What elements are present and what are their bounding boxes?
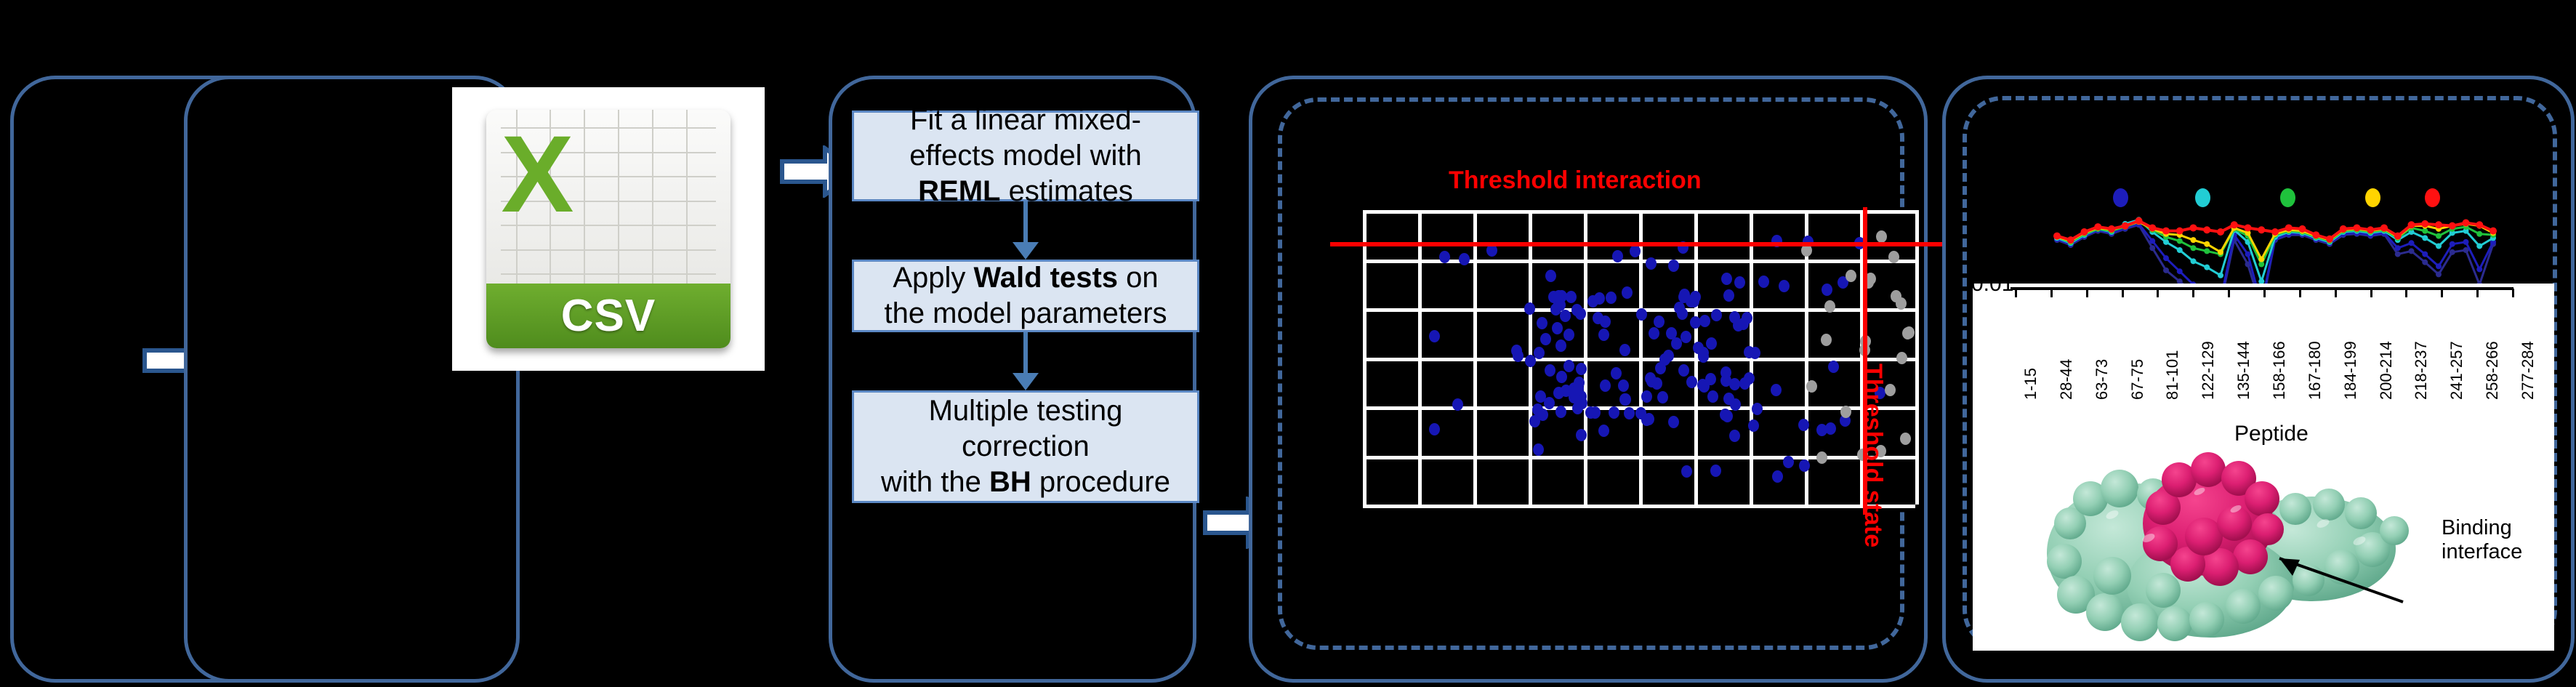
scatter-gridline-h <box>1363 505 1915 508</box>
scatter-point-significant <box>1598 329 1609 341</box>
scatter-point-significant <box>1772 470 1783 483</box>
scatter-point-significant <box>1598 425 1609 437</box>
scatter-point-significant <box>1681 465 1692 478</box>
chart-x-tick <box>2228 289 2230 297</box>
step-wald-suffix: on <box>1118 262 1159 294</box>
series-marker <box>2231 221 2238 228</box>
chart-x-tick <box>2086 289 2088 297</box>
scatter-point-significant <box>1657 391 1668 403</box>
scatter-point-significant <box>1619 344 1630 356</box>
scatter-point-nonsignificant <box>1846 270 1856 282</box>
chart-x-tick-label: 158-166 <box>2270 341 2289 400</box>
scatter-point-nonsignificant <box>1896 352 1907 364</box>
series-marker <box>2340 225 2347 233</box>
scatter-point-significant <box>1666 327 1677 340</box>
chart-x-tick-label: 258-266 <box>2483 341 2502 400</box>
step-box-wald: Apply Wald tests on the model parameters <box>852 260 1199 332</box>
scatter-point-significant <box>1556 371 1567 383</box>
scatter-point-significant <box>1563 329 1574 341</box>
series-marker <box>2204 248 2210 254</box>
series-marker <box>2422 228 2428 234</box>
scatter-point-significant <box>1534 347 1545 359</box>
series-marker <box>2476 266 2482 272</box>
scatter-point-significant <box>1738 318 1749 330</box>
series-marker <box>2245 252 2251 257</box>
series-marker <box>2435 221 2442 228</box>
series-marker <box>2422 235 2428 241</box>
scatter-point-significant <box>1545 270 1556 282</box>
series-marker <box>2326 236 2333 243</box>
scatter-point-nonsignificant <box>1900 433 1911 445</box>
scatter-point-significant <box>1723 289 1734 302</box>
step-wald-prefix: Apply <box>893 262 973 294</box>
series-marker <box>2258 257 2264 262</box>
chart-x-tick-label: 1-15 <box>2021 368 2040 400</box>
series-marker <box>2081 228 2088 236</box>
series-marker <box>2204 241 2210 247</box>
series-legend <box>1977 185 2544 214</box>
scatter-point-nonsignificant <box>1891 290 1901 302</box>
scatter-point-significant <box>1525 355 1536 367</box>
series-marker <box>2450 241 2455 247</box>
scatter-point-significant <box>1641 414 1652 426</box>
series-marker <box>2163 268 2169 273</box>
series-marker <box>2163 255 2169 261</box>
chart-x-tick-label: 81-101 <box>2163 350 2182 400</box>
scatter-point-significant <box>1622 286 1633 299</box>
binding-interface-line1: Binding <box>2442 516 2522 540</box>
threshold-interaction-label: Threshold interaction <box>1449 166 1702 195</box>
step-connector-1 <box>1023 201 1028 244</box>
scatter-point-nonsignificant <box>1821 334 1832 346</box>
scatter-point-significant <box>1600 316 1611 328</box>
scatter-point-significant <box>1748 419 1759 432</box>
scatter-point-significant <box>1537 317 1547 329</box>
scatter-point-significant <box>1529 415 1540 427</box>
chart-x-tick <box>2370 289 2372 297</box>
binding-interface-annotation: Binding interface <box>2442 516 2522 565</box>
scatter-point-significant <box>1799 459 1810 472</box>
series-marker <box>2421 220 2428 228</box>
scatter-point-significant <box>1524 302 1535 315</box>
series-marker <box>2285 224 2293 231</box>
step-bh-line1: Multiple testing <box>929 395 1123 427</box>
scatter-gridline-h <box>1363 456 1915 459</box>
series-marker <box>2463 239 2469 245</box>
series-marker <box>2422 260 2428 265</box>
series-marker <box>2271 228 2279 236</box>
chart-x-tick <box>2263 289 2266 297</box>
series-marker <box>2422 252 2428 257</box>
chart-x-tick <box>2122 289 2124 297</box>
series-marker <box>2136 217 2143 225</box>
scatter-gridline-v <box>1915 210 1919 505</box>
series-marker <box>2217 228 2224 236</box>
scatter-point-significant <box>1594 292 1605 305</box>
series-marker <box>2354 224 2361 231</box>
step-connector-1-tip <box>1013 242 1039 260</box>
scatter-point-significant <box>1668 416 1679 428</box>
series-marker <box>2395 245 2401 251</box>
chart-x-tick <box>2050 289 2053 297</box>
scatter-point-significant <box>1646 257 1657 270</box>
series-marker <box>2476 231 2482 237</box>
scatter-point-significant <box>1532 403 1543 416</box>
results-figure-card: 0.01 1-1528-4463-7367-7581-101122-129135… <box>1973 284 2554 651</box>
csv-file-icon: X CSV <box>452 87 765 371</box>
scatter-point-significant <box>1600 379 1611 392</box>
scatter-point-significant <box>1699 315 1710 327</box>
csv-letter-x: X <box>501 119 603 243</box>
scatter-point-significant <box>1540 333 1551 345</box>
chart-x-tick <box>2476 289 2479 297</box>
scatter-plot <box>1363 210 1915 505</box>
scatter-point-significant <box>1555 340 1566 352</box>
scatter-point-significant <box>1649 327 1659 340</box>
chart-x-tick <box>2405 289 2407 297</box>
legend-dot-1 <box>2113 188 2128 207</box>
scatter-point-nonsignificant <box>1816 451 1827 464</box>
scatter-point-significant <box>1452 398 1463 411</box>
legend-dot-5 <box>2425 188 2440 207</box>
scatter-point-significant <box>1545 364 1555 377</box>
scatter-point-significant <box>1779 280 1790 292</box>
protein-structure-image <box>2025 451 2432 643</box>
series-marker <box>2463 220 2470 227</box>
series-marker <box>2409 248 2415 254</box>
threshold-interaction-line <box>1330 242 1949 246</box>
series-marker <box>2367 226 2374 233</box>
series-marker <box>2177 268 2183 274</box>
step-box-reml: Fit a linear mixed- effects model with R… <box>852 111 1199 201</box>
series-marker <box>2436 243 2442 249</box>
scatter-point-significant <box>1825 422 1836 435</box>
series-marker <box>2436 233 2442 239</box>
scatter-point-significant <box>1729 311 1740 324</box>
series-marker <box>2218 273 2223 278</box>
scatter-point-significant <box>1609 406 1619 419</box>
step-bh-line4: procedure <box>1031 466 1170 498</box>
scatter-point-significant <box>1707 390 1718 403</box>
series-marker <box>2490 228 2497 235</box>
scatter-point-significant <box>1758 276 1769 288</box>
step-reml-line1: Fit a linear mixed- <box>910 104 1141 136</box>
series-marker <box>2108 225 2115 233</box>
scatter-point-significant <box>1734 276 1745 289</box>
chart-x-tick-label: 122-129 <box>2199 341 2218 400</box>
scatter-point-significant <box>1429 330 1440 342</box>
series-marker <box>2436 271 2442 277</box>
step-connector-2 <box>1023 332 1028 374</box>
series-marker <box>2190 224 2197 231</box>
series-marker <box>2191 245 2197 251</box>
step-bh-line2: correction <box>962 430 1090 462</box>
scatter-point-significant <box>1636 308 1647 321</box>
chart-x-tick <box>2512 289 2514 297</box>
series-marker <box>2408 221 2415 228</box>
scatter-point-nonsignificant <box>1806 380 1817 393</box>
series-marker <box>2053 233 2061 240</box>
series-marker <box>2067 236 2074 244</box>
threshold-state-label: Threshold state <box>1859 363 1887 547</box>
scatter-point-significant <box>1611 367 1622 379</box>
chart-x-tick-label: 63-73 <box>2093 359 2112 400</box>
scatter-point-significant <box>1750 347 1760 359</box>
step-bh-bold: BH <box>989 466 1031 498</box>
series-marker <box>2176 228 2183 235</box>
scatter-point-significant <box>1711 309 1722 321</box>
chart-x-tick-label: 67-75 <box>2128 359 2147 400</box>
scatter-point-significant <box>1668 260 1679 272</box>
scatter-point-significant <box>1721 273 1732 285</box>
scatter-point-nonsignificant <box>1840 406 1851 418</box>
scatter-point-significant <box>1705 373 1716 385</box>
chart-y-tick-001: 0.01 <box>1973 284 2013 297</box>
scatter-point-significant <box>1678 364 1689 377</box>
step-reml-bold: REML <box>918 175 1000 207</box>
series-marker <box>2395 252 2401 257</box>
series-marker <box>2409 240 2415 246</box>
scatter-point-significant <box>1459 253 1470 265</box>
scatter-point-significant <box>1630 245 1641 257</box>
series-marker <box>2450 249 2455 255</box>
csv-label: CSV <box>561 290 656 342</box>
step-connector-2-tip <box>1013 373 1039 390</box>
series-marker <box>2177 247 2183 253</box>
legend-dot-4 <box>2365 188 2380 207</box>
series-marker <box>2258 262 2264 268</box>
chart-x-tick-label: 241-257 <box>2447 341 2466 400</box>
series-marker <box>2476 243 2482 249</box>
scatter-point-significant <box>1828 361 1839 373</box>
scatter-point-significant <box>1606 292 1617 304</box>
binding-interface-line2: interface <box>2442 540 2522 564</box>
chart-x-tick <box>2335 289 2337 297</box>
series-marker <box>2163 239 2169 245</box>
scatter-point-significant <box>1730 398 1741 411</box>
scatter-point-significant <box>1752 403 1763 415</box>
scatter-point-significant <box>1553 387 1564 399</box>
series-marker <box>2203 226 2210 233</box>
chart-x-tick <box>2299 289 2301 297</box>
series-marker <box>2191 237 2197 243</box>
chart-x-tick-label: 277-284 <box>2519 341 2537 400</box>
scatter-point-significant <box>1783 456 1794 468</box>
scatter-point-significant <box>1560 310 1571 322</box>
scatter-point-significant <box>1566 291 1577 303</box>
series-marker <box>2218 249 2223 255</box>
step-wald-bold: Wald tests <box>974 262 1119 294</box>
step-reml-line2: effects model with <box>909 140 1141 172</box>
chart-x-tick <box>2192 289 2194 297</box>
scatter-point-significant <box>1552 322 1563 334</box>
scatter-point-significant <box>1710 465 1721 477</box>
legend-dot-2 <box>2195 188 2210 207</box>
scatter-point-significant <box>1771 384 1782 396</box>
step-bh-line3: with the <box>881 466 989 498</box>
series-marker <box>2312 231 2319 238</box>
scatter-point-significant <box>1729 430 1740 442</box>
chart-x-tick <box>2015 289 2017 297</box>
chart-x-tick <box>2441 289 2443 297</box>
scatter-point-significant <box>1576 363 1587 375</box>
chart-x-tick <box>2157 289 2159 297</box>
scatter-point-significant <box>1654 316 1665 328</box>
series-marker <box>2299 225 2306 233</box>
scatter-point-significant <box>1563 360 1574 372</box>
step-wald-line2: the model parameters <box>884 297 1167 329</box>
chart-x-tick-label: 184-199 <box>2341 341 2360 400</box>
series-marker <box>2191 258 2197 264</box>
scatter-point-significant <box>1641 390 1652 403</box>
scatter-point-significant <box>1555 406 1566 418</box>
scatter-point-significant <box>1577 397 1587 409</box>
scatter-point-significant <box>1624 407 1635 419</box>
series-marker <box>2162 228 2170 235</box>
series-marker <box>2449 222 2456 230</box>
chart-x-tick-label: 167-180 <box>2306 341 2325 400</box>
series-marker <box>2245 224 2252 231</box>
series-marker <box>2394 233 2402 240</box>
series-marker <box>2380 224 2388 231</box>
series-marker <box>2436 263 2442 269</box>
series-marker <box>2258 226 2265 233</box>
scatter-point-significant <box>1655 362 1666 374</box>
series-marker <box>2177 238 2183 244</box>
scatter-point-significant <box>1429 423 1440 435</box>
chart-x-tick-label: 200-214 <box>2377 341 2396 400</box>
series-marker <box>2122 222 2129 230</box>
series-marker <box>2204 265 2210 270</box>
scatter-point-significant <box>1651 377 1662 390</box>
series-marker <box>2149 238 2155 244</box>
scatter-point-significant <box>1533 443 1544 456</box>
scatter-point-nonsignificant <box>1876 230 1887 243</box>
scatter-point-significant <box>1689 295 1699 308</box>
step-box-bh: Multiple testing correction with the BH … <box>852 390 1199 503</box>
scatter-point-significant <box>1681 331 1691 343</box>
series-marker <box>2149 245 2155 251</box>
chart-x-axis-label: Peptide <box>2234 422 2309 446</box>
chart-x-tick-label: 28-44 <box>2057 359 2076 400</box>
series-marker <box>2094 223 2101 230</box>
series-marker <box>2149 224 2156 231</box>
chart-x-tick-label: 135-144 <box>2234 341 2253 400</box>
scatter-point-significant <box>1822 284 1832 296</box>
step-reml-line3: estimates <box>1001 175 1133 207</box>
scatter-point-significant <box>1729 378 1740 390</box>
series-marker <box>2476 221 2483 228</box>
scatter-point-significant <box>1618 379 1629 392</box>
chart-x-tick-label: 218-237 <box>2412 341 2431 400</box>
scatter-gridline-h <box>1363 210 1915 214</box>
legend-dot-3 <box>2280 188 2295 207</box>
